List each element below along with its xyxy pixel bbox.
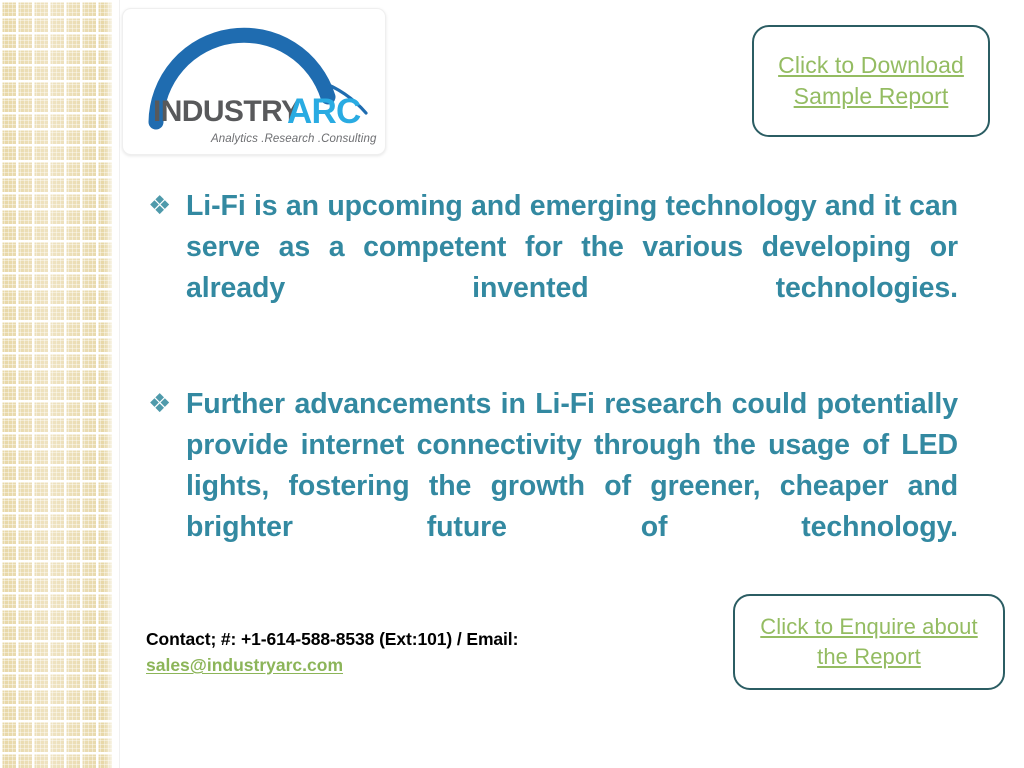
contact-email-link[interactable]: sales@industryarc.com xyxy=(146,653,343,677)
enquire-label-line1: Click to Enquire about xyxy=(760,614,977,639)
enquire-about-report-label: Click to Enquire about the Report xyxy=(750,612,987,672)
diamond-bullet-icon: ❖ xyxy=(146,186,186,227)
download-sample-report-button[interactable]: Click to Download Sample Report xyxy=(752,25,990,137)
industryarc-logo: INDUSTRY ARC Analytics .Research .Consul… xyxy=(123,9,385,154)
bullet-text: Further advancements in Li-Fi research c… xyxy=(186,384,958,589)
logo-card: INDUSTRY ARC Analytics .Research .Consul… xyxy=(122,8,386,155)
bullet-list: ❖ Li-Fi is an upcoming and emerging tech… xyxy=(146,186,958,619)
list-item: ❖ Further advancements in Li-Fi research… xyxy=(146,384,958,589)
download-label-line1: Click to Download xyxy=(778,52,964,78)
logo-svg: INDUSTRY ARC Analytics .Research .Consul… xyxy=(123,9,385,154)
download-sample-report-label: Click to Download Sample Report xyxy=(768,50,974,112)
bullet-text: Li-Fi is an upcoming and emerging techno… xyxy=(186,186,958,350)
contact-block: Contact; #: +1-614-588-8538 (Ext:101) / … xyxy=(146,627,616,677)
content-panel-divider xyxy=(119,0,120,768)
slide-canvas: INDUSTRY ARC Analytics .Research .Consul… xyxy=(0,0,1024,768)
diamond-bullet-icon: ❖ xyxy=(146,384,186,425)
decorative-grid-pattern xyxy=(0,0,113,768)
download-label-line2: Sample Report xyxy=(794,83,949,109)
logo-tagline: Analytics .Research .Consulting xyxy=(210,133,377,145)
logo-word-industry: INDUSTRY xyxy=(153,95,301,128)
contact-phone-line: Contact; #: +1-614-588-8538 (Ext:101) / … xyxy=(146,627,616,651)
list-item: ❖ Li-Fi is an upcoming and emerging tech… xyxy=(146,186,958,350)
enquire-label-line2: the Report xyxy=(817,644,921,669)
pattern-fade-overlay xyxy=(104,0,120,768)
logo-word-arc: ARC xyxy=(287,92,361,131)
enquire-about-report-button[interactable]: Click to Enquire about the Report xyxy=(733,594,1005,690)
